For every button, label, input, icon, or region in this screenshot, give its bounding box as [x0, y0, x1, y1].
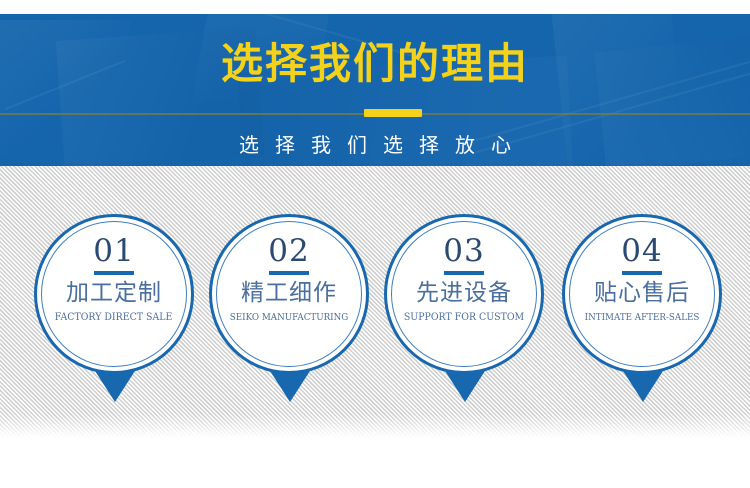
- badge-title-cn: 加工定制: [66, 279, 162, 308]
- badge-content: 03 先进设备 SUPPORT FOR CUSTOM: [384, 214, 544, 374]
- feature-badge[interactable]: 04 贴心售后 INTIMATE AFTER-SALES: [562, 214, 724, 414]
- badge-title-cn: 贴心售后: [594, 279, 690, 308]
- badge-number: 04: [621, 234, 662, 268]
- banner-subtitle: 选择我们选择放心: [0, 132, 750, 158]
- title-divider-accent: [364, 109, 422, 117]
- badge-title-en: SUPPORT FOR CUSTOM: [404, 311, 524, 325]
- promo-banner-stage: 选择我们的理由 选择我们选择放心 01 加工定制 FACTORY DIRECT …: [0, 0, 750, 488]
- badge-number: 03: [443, 234, 484, 268]
- top-white-strip: [0, 0, 750, 14]
- badge-content: 04 贴心售后 INTIMATE AFTER-SALES: [562, 214, 722, 374]
- badge-underline-bar: [444, 271, 484, 275]
- feature-badge-row: 01 加工定制 FACTORY DIRECT SALE 02 精工细作 SEIK…: [0, 166, 750, 440]
- badge-number: 02: [268, 234, 309, 268]
- header-banner: 选择我们的理由 选择我们选择放心: [0, 14, 750, 166]
- badge-title-en: INTIMATE AFTER-SALES: [585, 311, 700, 325]
- badge-title-cn: 精工细作: [241, 279, 337, 308]
- banner-title: 选择我们的理由: [0, 40, 750, 88]
- badge-underline-bar: [94, 271, 134, 275]
- bottom-white-strip: [0, 440, 750, 488]
- badge-title-cn: 先进设备: [416, 279, 512, 308]
- feature-badge[interactable]: 01 加工定制 FACTORY DIRECT SALE: [34, 214, 196, 414]
- badge-title-en: FACTORY DIRECT SALE: [55, 311, 173, 325]
- badge-underline-bar: [269, 271, 309, 275]
- badge-underline-bar: [622, 271, 662, 275]
- badge-title-en: SEIKO MANUFACTURING: [230, 311, 348, 325]
- feature-badge[interactable]: 03 先进设备 SUPPORT FOR CUSTOM: [384, 214, 546, 414]
- badge-number: 01: [93, 234, 134, 268]
- badge-content: 01 加工定制 FACTORY DIRECT SALE: [34, 214, 194, 374]
- feature-badge[interactable]: 02 精工细作 SEIKO MANUFACTURING: [209, 214, 371, 414]
- badge-content: 02 精工细作 SEIKO MANUFACTURING: [209, 214, 369, 374]
